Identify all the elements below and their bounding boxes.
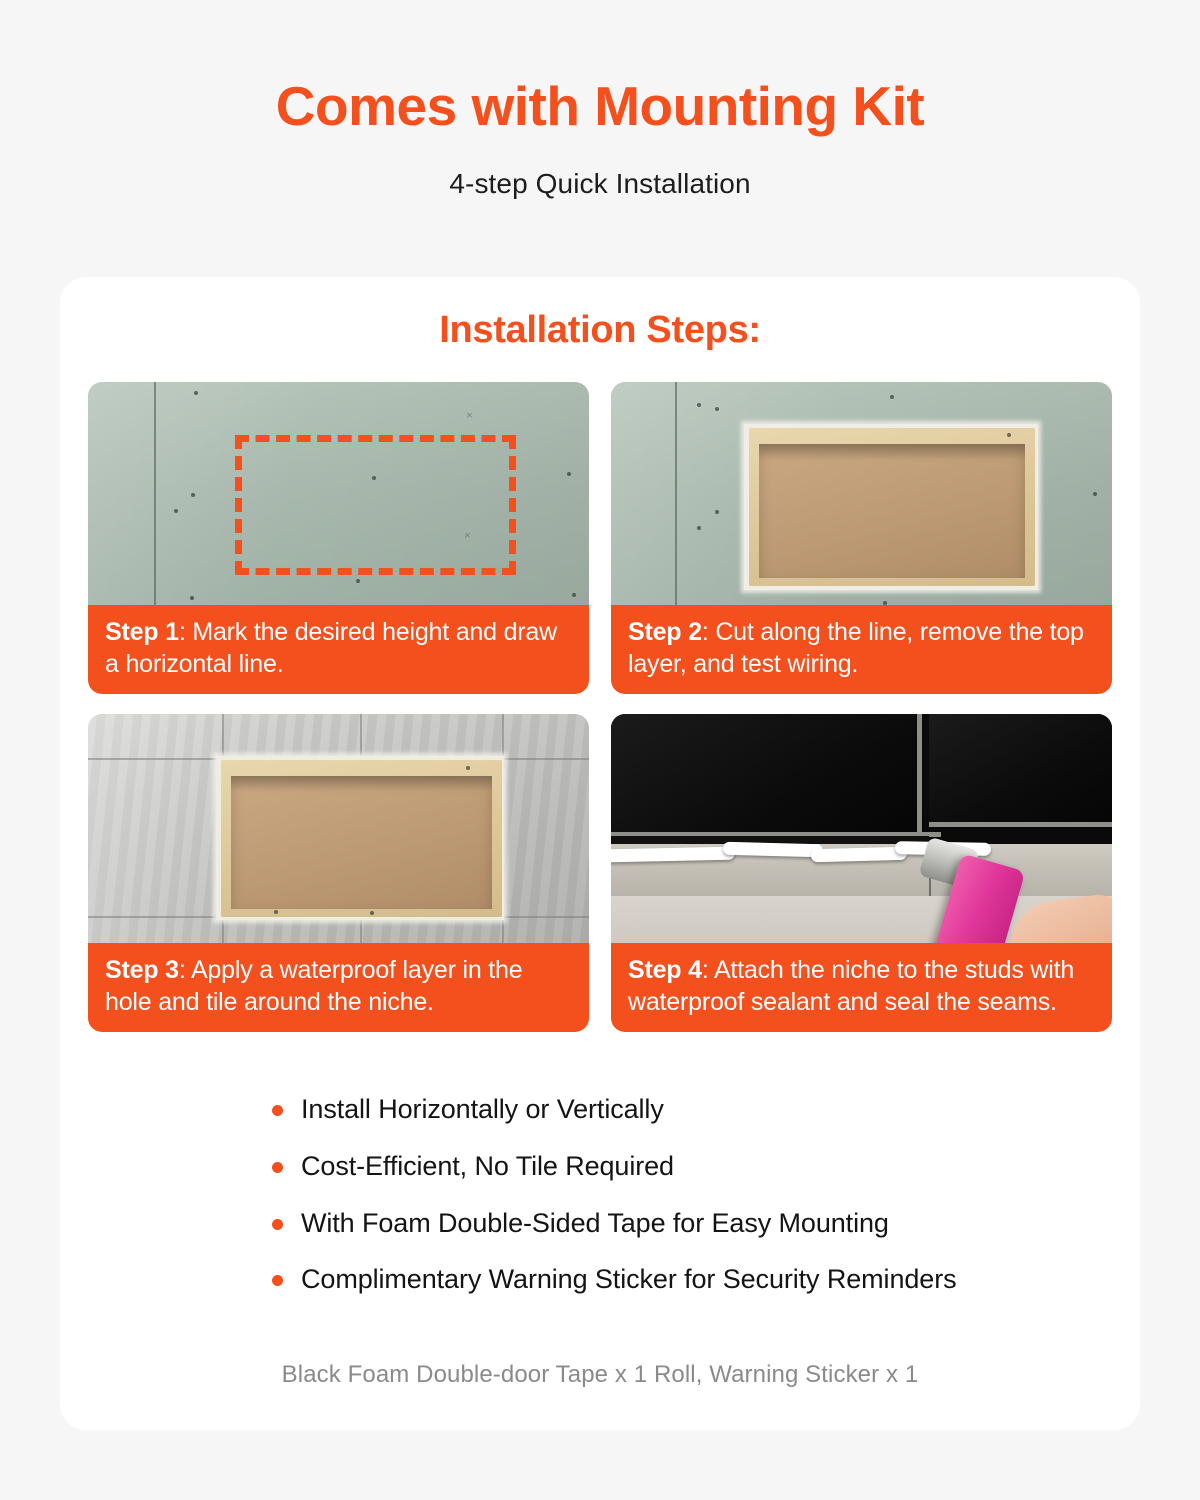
page-title: Comes with Mounting Kit: [0, 78, 1200, 136]
step-1-caption: Step 1: Mark the desired height and draw…: [88, 605, 589, 694]
step-2-photo: [611, 382, 1112, 620]
step-card-2[interactable]: Step 2: Cut along the line, remove the t…: [611, 382, 1112, 694]
screw-dot: [370, 911, 374, 915]
bullet-icon: [272, 1162, 283, 1173]
screw-dot: [191, 493, 195, 497]
drywall-seam: [154, 382, 156, 620]
screw-dot: [890, 395, 894, 399]
step-3-separator: :: [179, 956, 191, 984]
feature-list: Install Horizontally or Vertically Cost-…: [60, 1093, 1140, 1320]
screw-dot: [1007, 433, 1011, 437]
step-2-caption: Step 2: Cut along the line, remove the t…: [611, 605, 1112, 694]
panel-edge: [929, 822, 1112, 827]
screw-dot: [190, 596, 194, 600]
screw-dot: [715, 407, 719, 411]
step-4-caption: Step 4: Attach the niche to the studs wi…: [611, 943, 1112, 1032]
screw-dot: [194, 391, 198, 395]
feature-text: Complimentary Warning Sticker for Securi…: [301, 1263, 957, 1297]
step-3-label: Step 3: [105, 956, 179, 984]
promo-page: Comes with Mounting Kit 4-step Quick Ins…: [0, 0, 1200, 1500]
bullet-icon: [272, 1105, 283, 1116]
tiled-wall-image: [88, 714, 589, 957]
step-4-separator: :: [702, 956, 714, 984]
sealant-application-image: [611, 714, 1112, 957]
bullet-icon: [272, 1275, 283, 1286]
list-item: With Foam Double-Sided Tape for Easy Mou…: [60, 1207, 1140, 1241]
feature-text: Cost-Efficient, No Tile Required: [301, 1150, 674, 1184]
screw-dot: [466, 766, 470, 770]
list-item: Install Horizontally or Vertically: [60, 1093, 1140, 1127]
screw-dot: [697, 403, 701, 407]
screw-dot: [697, 526, 701, 530]
panel-edge: [917, 714, 922, 836]
screw-dot: [567, 472, 571, 476]
card-title: Installation Steps:: [60, 277, 1140, 352]
drywall-seam: [675, 382, 677, 620]
step-2-label: Step 2: [628, 618, 702, 646]
included-accessories-note: Black Foam Double-door Tape x 1 Roll, Wa…: [60, 1361, 1140, 1389]
list-item: Cost-Efficient, No Tile Required: [60, 1150, 1140, 1184]
feature-text: With Foam Double-Sided Tape for Easy Mou…: [301, 1207, 889, 1241]
installation-card: Installation Steps: ×: [60, 277, 1140, 1430]
page-header: Comes with Mounting Kit 4-step Quick Ins…: [0, 0, 1200, 200]
sealant-bead: [723, 842, 823, 858]
step-3-photo: [88, 714, 589, 957]
step-4-photo: [611, 714, 1112, 957]
bullet-icon: [272, 1219, 283, 1230]
step-4-label: Step 4: [628, 956, 702, 984]
drywall-image: × ×: [88, 382, 589, 620]
niche-interior: [231, 776, 492, 909]
pencil-mark: ×: [466, 408, 473, 423]
screw-dot: [174, 509, 178, 513]
cut-outline-marker: [235, 435, 516, 575]
page-subtitle: 4-step Quick Installation: [0, 168, 1200, 200]
step-1-photo: × ×: [88, 382, 589, 620]
dark-panel: [611, 714, 923, 840]
sealant-bead: [611, 847, 735, 863]
drywall-cut-image: [611, 382, 1112, 620]
step-card-4[interactable]: Step 4: Attach the niche to the studs wi…: [611, 714, 1112, 1032]
installation-steps-grid: × × Step 1: Mark the desired height and …: [88, 382, 1112, 1032]
step-3-caption: Step 3: Apply a waterproof layer in the …: [88, 943, 589, 1032]
screw-dot: [715, 510, 719, 514]
niche-top-shadow: [231, 776, 492, 791]
dark-panel: [929, 714, 1112, 826]
step-2-separator: :: [702, 618, 716, 646]
step-card-1[interactable]: × × Step 1: Mark the desired height and …: [88, 382, 589, 694]
sealant-bead: [811, 847, 907, 863]
feature-text: Install Horizontally or Vertically: [301, 1093, 664, 1127]
screw-dot: [274, 910, 278, 914]
step-1-label: Step 1: [105, 618, 179, 646]
step-card-3[interactable]: Step 3: Apply a waterproof layer in the …: [88, 714, 589, 1032]
niche-interior: [759, 444, 1025, 578]
list-item: Complimentary Warning Sticker for Securi…: [60, 1263, 1140, 1297]
screw-dot: [356, 579, 360, 583]
screw-dot: [572, 593, 576, 597]
screw-dot: [1093, 492, 1097, 496]
niche-top-shadow: [759, 444, 1025, 460]
step-1-separator: :: [179, 618, 193, 646]
